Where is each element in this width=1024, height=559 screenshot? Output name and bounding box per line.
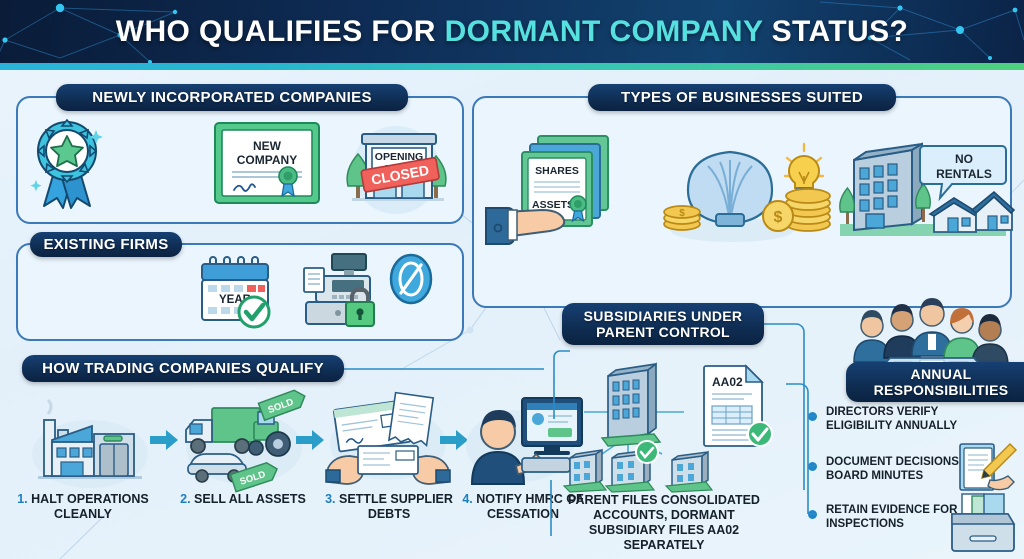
step-2-label: SELL ALL ASSETS — [194, 492, 306, 506]
arrow-step2-to-step3 — [296, 428, 326, 452]
certificate-line-1: NEW — [253, 139, 282, 153]
annual-bullet-spine — [786, 382, 816, 522]
step-1-number: 1. — [17, 492, 27, 506]
section-divider-vertical — [548, 480, 554, 536]
step1-factory-icon — [28, 396, 148, 488]
step-2: 2. SELL ALL ASSETS — [176, 492, 310, 507]
how-badge-connector-line — [344, 366, 544, 372]
annual-bullet-1: DIRECTORS VERIFY ELIGIBILITY ANNUALLY — [826, 406, 986, 434]
step-3-label: SETTLE SUPPLIER DEBTS — [339, 492, 453, 521]
step-4-number: 4. — [462, 492, 472, 506]
svg-text:$: $ — [679, 208, 685, 219]
header-accent-bar — [0, 63, 1024, 70]
file-box-icon — [948, 492, 1018, 554]
badge-subsidiaries-line2: PARENT CONTROL — [596, 324, 730, 340]
arrow-step1-to-step2 — [150, 428, 180, 452]
hand-holding-documents-icon: SHARES ASSETS — [486, 132, 654, 242]
no-rentals-speech-bubble: NO RENTALS — [920, 142, 1006, 200]
speech-line-2: RENTALS — [936, 167, 992, 181]
subsidiaries-caption: PARENT FILES CONSOLIDATED ACCOUNTS, DORM… — [556, 493, 772, 553]
infographic-page: WHO QUALIFIES FOR DORMANT COMPANY STATUS… — [0, 0, 1024, 559]
aa02-document-icon: AA02 — [702, 364, 772, 450]
document-label-shares: SHARES — [535, 165, 579, 177]
zero-transactions-icon — [388, 254, 434, 304]
step-2-number: 2. — [180, 492, 190, 506]
page-title-highlight: DORMANT COMPANY — [445, 15, 763, 48]
page-title: WHO QUALIFIES FOR DORMANT COMPANY STATUS… — [0, 0, 1024, 63]
badge-how-trading-companies-qualify: HOW TRADING COMPANIES QUALIFY — [22, 355, 344, 382]
badge-subsidiaries: SUBSIDIARIES UNDER PARENT CONTROL — [562, 303, 764, 345]
aa02-document-label: AA02 — [712, 375, 743, 389]
step3-settle-debts-icon — [326, 390, 450, 490]
coin-symbol: $ — [774, 209, 783, 226]
badge-annual-line2: RESPONSIBILITIES — [874, 382, 1009, 398]
badge-newly-incorporated: NEWLY INCORPORATED COMPANIES — [56, 84, 408, 111]
step2-assets-sold-icon: SOLD SOLD — [182, 392, 306, 490]
step-1-label: HALT OPERATIONS CLEANLY — [31, 492, 149, 521]
step-3: 3. SETTLE SUPPLIER DEBTS — [322, 492, 456, 522]
step-1: 1. HALT OPERATIONS CLEANLY — [16, 492, 150, 522]
badge-existing-firms: EXISTING FIRMS — [30, 232, 182, 257]
certificate-line-2: COMPANY — [237, 153, 297, 167]
speech-line-1: NO — [955, 152, 973, 166]
calendar-year-icon: YEAR — [196, 256, 284, 332]
storefront-closed-icon: OPENING SOON CLOSED — [326, 112, 450, 216]
page-title-part1: WHO QUALIFIES FOR — [116, 15, 445, 48]
badge-annual-responsibilities: ANNUAL RESPONSIBILITIES — [846, 362, 1024, 402]
board-minutes-pen-icon — [958, 440, 1018, 496]
page-header: WHO QUALIFIES FOR DORMANT COMPANY STATUS… — [0, 0, 1024, 63]
step-3-number: 3. — [325, 492, 335, 506]
badge-subsidiaries-line1: SUBSIDIARIES UNDER — [584, 308, 743, 324]
cash-register-lock-icon — [288, 252, 382, 332]
shell-coins-bulb-icon: $ $ — [660, 138, 832, 250]
certificate-icon: NEW COMPANY — [214, 122, 320, 204]
badge-types-of-businesses: TYPES OF BUSINESSES SUITED — [588, 84, 896, 111]
page-title-part2: STATUS? — [763, 15, 908, 48]
badge-annual-line1: ANNUAL — [911, 366, 972, 382]
award-ribbon-icon — [30, 118, 104, 210]
